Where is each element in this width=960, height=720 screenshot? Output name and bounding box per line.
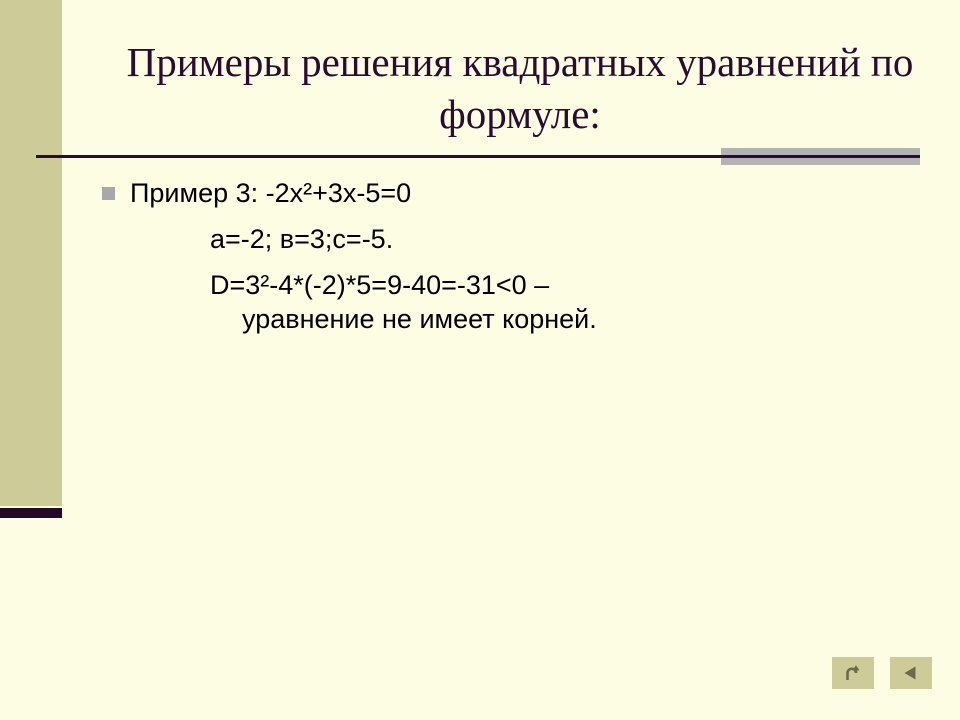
- coefficients-line: a=-2; в=3;с=-5.: [100, 222, 880, 256]
- square-bullet-icon: [102, 187, 115, 200]
- conclusion-line: уравнение не имеет корней.: [100, 302, 880, 336]
- back-arrow-icon: [900, 662, 922, 684]
- slide-canvas: Примеры решения квадратных уравнений по …: [0, 0, 960, 720]
- title-underline-rule: [36, 155, 920, 158]
- slide-title: Примеры решения квадратных уравнений по …: [120, 36, 920, 140]
- back-button[interactable]: [890, 657, 932, 689]
- return-arrow-icon: [842, 662, 864, 684]
- return-button[interactable]: [832, 657, 874, 689]
- slide-body: Пример 3: -2x²+3x-5=0 a=-2; в=3;с=-5. D=…: [100, 176, 880, 336]
- bullet-item-example: Пример 3: -2x²+3x-5=0: [100, 176, 880, 210]
- discriminant-line: D=3²-4*(-2)*5=9-40=-31<0 –: [100, 268, 880, 302]
- navigation-buttons: [832, 657, 932, 689]
- example-statement: Пример 3: -2x²+3x-5=0: [130, 176, 880, 210]
- left-band-end-bar: [0, 508, 62, 518]
- left-decorative-band: [0, 0, 62, 506]
